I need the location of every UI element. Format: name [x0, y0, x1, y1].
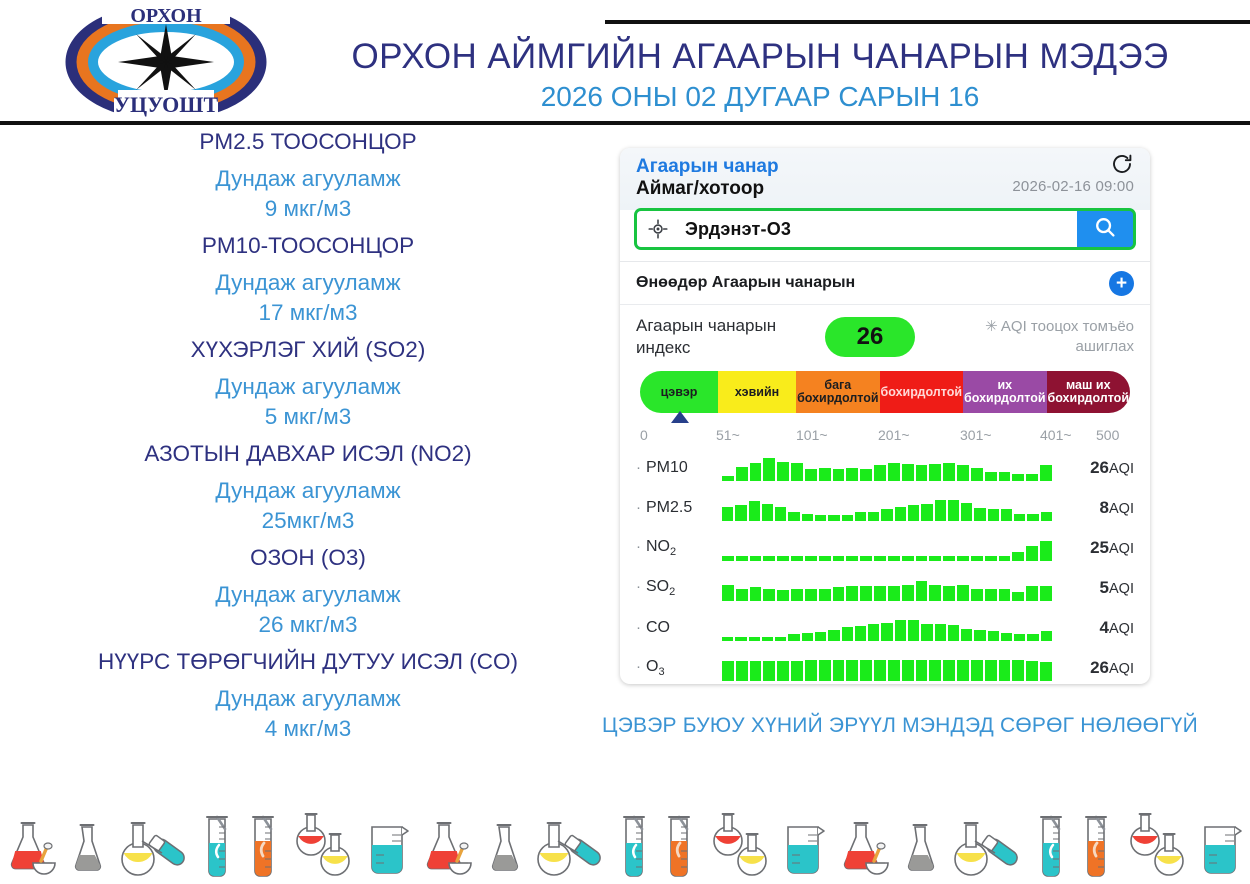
scale-tick: 201~	[878, 427, 910, 443]
sparkline-bar	[762, 637, 773, 641]
scale-tick: 500	[1096, 427, 1119, 443]
pollutant-row: ·CO4AQI	[636, 608, 1134, 648]
cyan-graduated-cylinder-icon	[199, 813, 235, 884]
bullet-icon: ·	[636, 499, 641, 516]
metric-block: НҮҮРС ТӨРӨГЧИЙН ДУТУУ ИСЭЛ (CO) Дундаж а…	[28, 648, 588, 743]
sparkline-bar	[842, 515, 853, 521]
sparkline-bar	[833, 469, 845, 481]
sparkline-bar	[819, 660, 831, 681]
metric-value: 4 мкг/м3	[28, 715, 588, 743]
logo-bottom-text: УЦУОШТ	[114, 92, 219, 117]
sparkline-bar	[819, 556, 831, 561]
sparkline-bar	[961, 629, 972, 641]
pollutant-rows: ·PM1026AQI·PM2.58AQI·NO225AQI·SO25AQI·CO…	[620, 448, 1150, 684]
sparkline-bar	[988, 631, 999, 641]
sparkline-bar	[777, 556, 789, 561]
sparkline-bar	[902, 660, 914, 681]
search-icon	[1093, 215, 1117, 244]
grey-erlenmeyer-flask-icon	[487, 817, 521, 884]
bullet-icon: ·	[636, 619, 641, 636]
sparkline-bar	[750, 587, 762, 601]
timestamp: 2026-02-16 09:00	[1012, 178, 1134, 195]
sparkline-bar	[943, 556, 955, 561]
cyan-beaker-icon	[1199, 817, 1243, 884]
pollutant-row: ·NO225AQI	[636, 528, 1134, 568]
sparkline-bar	[777, 661, 789, 681]
title-main: ОРХОН АЙМГИЙН АГААРЫН ЧАНАРЫН МЭДЭЭ	[270, 36, 1250, 78]
sparkline-bar	[819, 468, 831, 481]
grey-erlenmeyer-flask-icon	[903, 817, 937, 884]
aqi-scale-ticks: 0 51~ 101~ 201~ 301~ 401~ 500	[640, 427, 1130, 445]
sparkline-bar	[735, 505, 746, 521]
pollutant-value: 4AQI	[1062, 618, 1134, 638]
pollutant-sparkline	[722, 455, 1062, 481]
sparkline-bar	[749, 501, 760, 521]
section-title: Өнөөдөр Агаарын чанарын	[636, 274, 1109, 292]
location-search-bar[interactable]: Эрдэнэт-O3	[634, 208, 1136, 250]
sparkline-bar	[1012, 592, 1024, 601]
sparkline-bar	[902, 585, 914, 601]
sparkline-bar	[988, 509, 999, 521]
sparkline-bar	[1001, 633, 1012, 641]
search-input-value: Эрдэнэт-O3	[685, 219, 791, 240]
sparkline-bar	[916, 660, 928, 681]
gps-target-icon[interactable]	[647, 218, 669, 240]
pollutant-name: ·NO2	[636, 538, 722, 558]
sparkline-bar	[1014, 634, 1025, 641]
scale-segment-slight: бага бохирдолтой	[796, 371, 879, 413]
sparkline-bar	[775, 637, 786, 641]
sparkline-bar	[775, 507, 786, 521]
logo-top-text: ОРХОН	[130, 5, 202, 27]
metric-block: АЗОТЫН ДАВХАР ИСЭЛ (NO2) Дундаж агууламж…	[28, 440, 588, 535]
pollutant-row: ·PM1026AQI	[636, 448, 1134, 488]
sparkline-bar	[921, 624, 932, 641]
sparkline-bar	[908, 620, 919, 641]
sparkline-bar	[833, 587, 845, 601]
metric-label: Дундаж агууламж	[28, 475, 588, 507]
cyan-graduated-cylinder-icon	[616, 813, 652, 884]
sparkline-bar	[881, 509, 892, 521]
pollutant-value: 8AQI	[1062, 498, 1134, 518]
pollutant-sparkline	[722, 615, 1062, 641]
sparkline-bar	[985, 556, 997, 561]
sparkline-bar	[948, 625, 959, 641]
metric-value: 17 мкг/м3	[28, 299, 588, 327]
sparkline-bar	[791, 556, 803, 561]
metric-value: 25мкг/м3	[28, 507, 588, 535]
metric-value: 9 мкг/м3	[28, 195, 588, 223]
sparkline-bar	[1040, 541, 1052, 561]
sparkline-bar	[957, 465, 969, 481]
sparkline-bar	[1040, 465, 1052, 481]
sparkline-bar	[815, 515, 826, 521]
sparkline-bar	[888, 586, 900, 601]
sparkline-bar	[929, 464, 941, 481]
orange-graduated-cylinder-icon	[245, 813, 281, 884]
scale-tick: 0	[640, 427, 648, 443]
sparkline-bar	[722, 585, 734, 601]
sparkline-bar	[819, 589, 831, 601]
scale-segment-clean: цэвэр	[640, 371, 718, 413]
sparkline-bar	[833, 660, 845, 681]
sparkline-bar	[805, 556, 817, 561]
sparkline-bar	[985, 660, 997, 681]
search-button[interactable]	[1077, 211, 1133, 247]
sparkline-bar	[791, 661, 803, 681]
sparkline-bar	[935, 500, 946, 521]
aqi-scale-marker	[671, 411, 689, 423]
sparkline-bar	[1026, 661, 1038, 681]
pollutant-value: 25AQI	[1062, 538, 1134, 558]
pollutant-row: ·SO25AQI	[636, 568, 1134, 608]
sparkline-bar	[999, 660, 1011, 681]
sparkline-bar	[935, 624, 946, 641]
sparkline-bar	[736, 467, 748, 481]
bullet-icon: ·	[636, 658, 641, 675]
scale-segment-very: их бохирдолтой	[963, 371, 1046, 413]
bullet-icon: ·	[636, 538, 641, 555]
sparkline-bar	[1027, 634, 1038, 641]
sparkline-bar	[763, 556, 775, 561]
grey-erlenmeyer-flask-icon	[70, 817, 104, 884]
status-caption: ЦЭВЭР БУЮУ ХҮНИЙ ЭРҮҮЛ МЭНДЭД СӨРӨГ НӨЛӨ…	[560, 714, 1240, 738]
cyan-graduated-cylinder-icon	[1033, 813, 1069, 884]
sparkline-bar	[888, 660, 900, 681]
sparkline-bar	[722, 556, 734, 561]
metric-label: Дундаж агууламж	[28, 683, 588, 715]
sparkline-bar	[855, 512, 866, 521]
sparkline-bar	[763, 589, 775, 601]
sparkline-bar	[943, 660, 955, 681]
app-brand-line1: Агаарын чанар	[636, 156, 1134, 178]
metric-value: 5 мкг/м3	[28, 403, 588, 431]
metric-label: Дундаж агууламж	[28, 267, 588, 299]
orkhon-logo: ОРХОН УЦУОШТ	[62, 2, 270, 120]
sparkline-bar	[999, 589, 1011, 601]
orange-graduated-cylinder-icon	[1078, 813, 1114, 884]
sparkline-bar	[846, 556, 858, 561]
cyan-beaker-icon	[366, 817, 410, 884]
sparkline-bar	[1040, 662, 1052, 681]
sparkline-bar	[1041, 512, 1052, 521]
metric-name: ОЗОН (O3)	[28, 544, 588, 572]
red-and-yellow-flasks-icon	[290, 813, 356, 884]
sparkline-bar	[833, 556, 845, 561]
sparkline-bar	[846, 468, 858, 481]
sparkline-bar	[735, 637, 746, 641]
yellow-flask-with-test-tube-icon	[530, 817, 606, 884]
sparkline-bar	[874, 586, 886, 601]
sparkline-bar	[860, 556, 872, 561]
aqi-scale-bar: цэвэр хэвийн бага бохирдолтой бохирдолто…	[640, 371, 1130, 413]
sparkline-bar	[815, 632, 826, 641]
sparkline-bar	[974, 508, 985, 521]
aqi-formula-note: ✳ AQI тооцох томъёо ашиглах	[915, 317, 1134, 357]
sparkline-bar	[828, 630, 839, 641]
search-input[interactable]: Эрдэнэт-O3	[637, 211, 1077, 247]
aqi-panel: Агаарын чанарын индекс 26 ✳ AQI тооцох т…	[620, 305, 1150, 445]
sparkline-bar	[750, 661, 762, 681]
title-sub: 2026 ОНЫ 02 ДУГААР САРЫН 16	[270, 80, 1250, 114]
sparkline-bar	[888, 463, 900, 481]
orange-graduated-cylinder-icon	[661, 813, 697, 884]
sparkline-bar	[929, 556, 941, 561]
pollutant-name: ·PM2.5	[636, 499, 722, 517]
sparkline-bar	[1014, 514, 1025, 521]
bullet-icon: ·	[636, 578, 641, 595]
metric-name: АЗОТЫН ДАВХАР ИСЭЛ (NO2)	[28, 440, 588, 468]
sparkline-bar	[929, 660, 941, 681]
sparkline-bar	[1012, 552, 1024, 561]
page-title: ОРХОН АЙМГИЙН АГААРЫН ЧАНАРЫН МЭДЭЭ 2026…	[270, 36, 1250, 114]
scale-tick: 51~	[716, 427, 740, 443]
sparkline-bar	[1026, 546, 1038, 561]
sparkline-bar	[902, 556, 914, 561]
sparkline-bar	[762, 504, 773, 521]
sparkline-bar	[868, 512, 879, 521]
metric-value: 26 мкг/м3	[28, 611, 588, 639]
add-button[interactable]: +	[1109, 271, 1134, 296]
sparkline-bar	[999, 472, 1011, 481]
header-rule-bottom	[0, 121, 1250, 125]
pollutant-name: ·PM10	[636, 459, 722, 477]
metric-name: PM2.5 ТООСОНЦОР	[28, 128, 588, 156]
sparkline-bar	[874, 556, 886, 561]
sparkline-bar	[985, 472, 997, 481]
sparkline-bar	[805, 469, 817, 481]
sparkline-bar	[722, 507, 733, 521]
scale-tick: 301~	[960, 427, 992, 443]
sparkline-bar	[971, 589, 983, 601]
refresh-icon[interactable]	[1110, 152, 1134, 176]
metric-label: Дундаж агууламж	[28, 163, 588, 195]
aqi-value-badge: 26	[825, 317, 915, 357]
scale-segment-extreme: маш их бохирдолтой	[1047, 371, 1130, 413]
metric-block: ОЗОН (O3) Дундаж агууламж 26 мкг/м3	[28, 544, 588, 639]
sparkline-bar	[895, 620, 906, 641]
pollutant-name: ·SO2	[636, 578, 722, 598]
sparkline-bar	[788, 512, 799, 521]
sparkline-bar	[971, 468, 983, 481]
pollutant-sparkline	[722, 655, 1062, 681]
sparkline-bar	[805, 589, 817, 601]
red-flask-with-mortar-icon	[3, 817, 61, 884]
sparkline-bar	[802, 633, 813, 641]
sparkline-bar	[763, 661, 775, 681]
sparkline-bar	[895, 507, 906, 521]
yellow-flask-with-test-tube-icon	[947, 817, 1023, 884]
sparkline-bar	[985, 589, 997, 601]
yellow-flask-with-test-tube-icon	[114, 817, 190, 884]
sparkline-bar	[957, 660, 969, 681]
sparkline-bar	[943, 463, 955, 481]
metric-name: НҮҮРС ТӨРӨГЧИЙН ДУТУУ ИСЭЛ (CO)	[28, 648, 588, 676]
sparkline-bar	[1027, 514, 1038, 521]
sparkline-bar	[1026, 586, 1038, 601]
sparkline-bar	[874, 660, 886, 681]
sparkline-bar	[855, 626, 866, 641]
sparkline-bar	[777, 590, 789, 601]
sparkline-bar	[961, 503, 972, 521]
pollutant-sparkline	[722, 575, 1062, 601]
pollutant-sparkline	[722, 495, 1062, 521]
sparkline-bar	[777, 462, 789, 481]
sparkline-bar	[1026, 474, 1038, 481]
app-card-header: Агаарын чанар Аймаг/хотоор 2026-02-16 09…	[620, 148, 1150, 210]
sparkline-bar	[1012, 660, 1024, 681]
sparkline-bar	[916, 556, 928, 561]
sparkline-bar	[948, 500, 959, 521]
sparkline-bar	[929, 585, 941, 601]
metric-label: Дундаж агууламж	[28, 579, 588, 611]
aqi-scale: цэвэр хэвийн бага бохирдолтой бохирдолто…	[640, 371, 1130, 413]
sparkline-bar	[957, 556, 969, 561]
sparkline-bar	[943, 586, 955, 601]
sparkline-bar	[736, 589, 748, 601]
sparkline-bar	[916, 465, 928, 481]
sparkline-bar	[921, 504, 932, 521]
metric-name: ХҮХЭРЛЭГ ХИЙ (SO2)	[28, 336, 588, 364]
sparkline-bar	[828, 515, 839, 521]
sparkline-bar	[971, 660, 983, 681]
scale-tick: 101~	[796, 427, 828, 443]
sparkline-bar	[1001, 509, 1012, 521]
aqi-caption: Агаарын чанарын индекс	[636, 315, 821, 359]
red-and-yellow-flasks-icon	[1124, 813, 1190, 884]
red-flask-with-mortar-icon	[836, 817, 894, 884]
sparkline-bar	[749, 637, 760, 641]
scale-segment-polluted: бохирдолтой	[880, 371, 963, 413]
metric-block: ХҮХЭРЛЭГ ХИЙ (SO2) Дундаж агууламж 5 мкг…	[28, 336, 588, 431]
sparkline-bar	[722, 661, 734, 681]
red-and-yellow-flasks-icon	[707, 813, 773, 884]
sparkline-bar	[842, 627, 853, 641]
sparkline-bar	[868, 624, 879, 641]
sparkline-bar	[860, 660, 872, 681]
sparkline-bar	[763, 458, 775, 481]
sparkline-bar	[1040, 586, 1052, 601]
sparkline-bar	[788, 634, 799, 641]
sparkline-bar	[802, 514, 813, 521]
pollutant-value: 26AQI	[1062, 458, 1134, 478]
metric-block: PM2.5 ТООСОНЦОР Дундаж агууламж 9 мкг/м3	[28, 128, 588, 223]
cyan-beaker-icon	[782, 817, 826, 884]
sparkline-bar	[902, 464, 914, 481]
pollutant-row: ·PM2.58AQI	[636, 488, 1134, 528]
sparkline-bar	[999, 556, 1011, 561]
metric-label: Дундаж агууламж	[28, 371, 588, 403]
pollutant-name: ·O3	[636, 658, 722, 678]
sparkline-bar	[805, 660, 817, 681]
scale-segment-normal: хэвийн	[718, 371, 796, 413]
metric-block: PM10-ТООСОНЦОР Дундаж агууламж 17 мкг/м3	[28, 232, 588, 327]
sparkline-bar	[722, 637, 733, 641]
sparkline-bar	[881, 623, 892, 641]
bullet-icon: ·	[636, 459, 641, 476]
header-rule-top	[605, 20, 1250, 24]
sparkline-bar	[791, 589, 803, 601]
sparkline-bar	[916, 581, 928, 601]
red-flask-with-mortar-icon	[419, 817, 477, 884]
sparkline-bar	[974, 630, 985, 641]
pollutant-sparkline	[722, 535, 1062, 561]
scale-tick: 401~	[1040, 427, 1072, 443]
sparkline-bar	[722, 476, 734, 481]
sparkline-bar	[736, 556, 748, 561]
sparkline-bar	[750, 463, 762, 481]
sparkline-bar	[860, 469, 872, 481]
sparkline-bar	[750, 556, 762, 561]
sparkline-bar	[888, 556, 900, 561]
sparkline-bar	[874, 465, 886, 481]
sparkline-bar	[736, 661, 748, 681]
metric-name: PM10-ТООСОНЦОР	[28, 232, 588, 260]
sparkline-bar	[860, 586, 872, 601]
sparkline-bar	[971, 556, 983, 561]
lab-icon-strip	[0, 818, 1250, 884]
pollutant-value: 26AQI	[1062, 658, 1134, 678]
sparkline-bar	[957, 585, 969, 601]
pollutant-value: 5AQI	[1062, 578, 1134, 598]
sparkline-bar	[846, 660, 858, 681]
sparkline-bar	[908, 505, 919, 521]
sparkline-bar	[846, 586, 858, 601]
air-quality-app-card: Агаарын чанар Аймаг/хотоор 2026-02-16 09…	[620, 148, 1150, 684]
metrics-column: PM2.5 ТООСОНЦОР Дундаж агууламж 9 мкг/м3…	[28, 128, 588, 752]
sparkline-bar	[1041, 631, 1052, 641]
sparkline-bar	[1012, 474, 1024, 481]
today-section-header: Өнөөдөр Агаарын чанарын +	[620, 261, 1150, 305]
pollutant-row: ·O326AQI	[636, 648, 1134, 684]
sparkline-bar	[791, 463, 803, 481]
pollutant-name: ·CO	[636, 619, 722, 637]
page-header: ОРХОН УЦУОШТ ОРХОН АЙМГИЙН АГААРЫН ЧАНАР…	[0, 0, 1250, 124]
